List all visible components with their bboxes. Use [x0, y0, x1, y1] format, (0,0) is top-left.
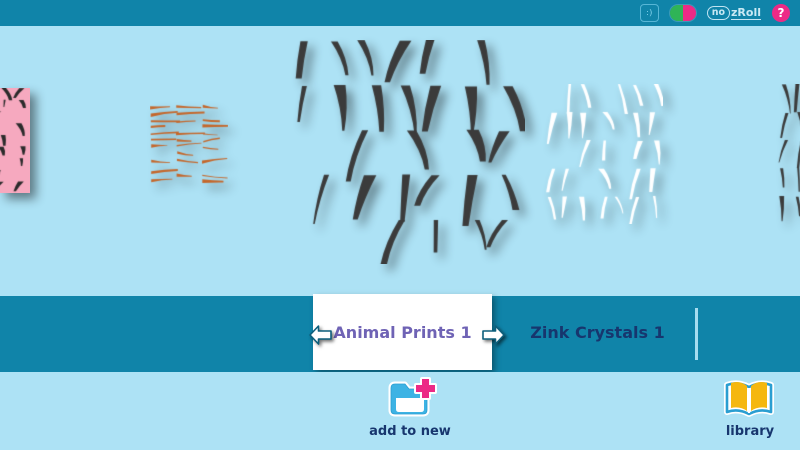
swatch-zebra-white[interactable] — [543, 84, 663, 224]
library-button[interactable]: library — [700, 376, 800, 438]
open-book-icon — [723, 376, 777, 422]
nozroll-logo: no zRoll — [707, 6, 761, 20]
bottom-toolbar: add to new library — [0, 372, 800, 450]
color-pill-green-half — [670, 5, 683, 21]
swatch-pink-zebra[interactable] — [0, 88, 30, 193]
top-toolbar: :) no zRoll ? — [0, 0, 800, 26]
current-set-label: Animal Prints 1 — [333, 323, 471, 342]
help-icon[interactable]: ? — [772, 4, 790, 22]
prev-set-arrow-button[interactable] — [306, 320, 336, 350]
band-divider — [695, 308, 698, 360]
arrow-right-icon — [480, 324, 506, 346]
frame-toggle-icon[interactable]: :) — [640, 4, 659, 22]
app-root: :) no zRoll ? Animal Prints 1 — [0, 0, 800, 450]
top-toolbar-icons: :) no zRoll ? — [640, 4, 790, 22]
color-pill-icon[interactable] — [670, 5, 696, 21]
swatch-canvas[interactable] — [0, 26, 800, 296]
swatch-zebra-dark-selected[interactable] — [283, 40, 525, 264]
folder-plus-icon — [383, 376, 437, 422]
next-set-label-container[interactable]: Zink Crystals 1 — [500, 294, 695, 370]
library-label: library — [726, 425, 774, 438]
next-set-label: Zink Crystals 1 — [530, 323, 664, 342]
current-set-card[interactable]: Animal Prints 1 — [313, 294, 492, 370]
frame-toggle-glyph: :) — [646, 9, 653, 17]
nozroll-logo-prefix: no — [707, 6, 730, 20]
add-to-new-label: add to new — [369, 425, 451, 438]
next-set-arrow-button[interactable] — [478, 320, 508, 350]
arrow-left-icon — [308, 324, 334, 346]
nozroll-logo-suffix: zRoll — [731, 7, 761, 20]
swatch-tiger-orange[interactable] — [150, 104, 228, 184]
swatch-zebra-dark-edge[interactable] — [776, 84, 800, 224]
color-pill-pink-half — [683, 5, 696, 21]
add-to-new-button[interactable]: add to new — [355, 376, 465, 438]
help-icon-glyph: ? — [778, 7, 785, 19]
